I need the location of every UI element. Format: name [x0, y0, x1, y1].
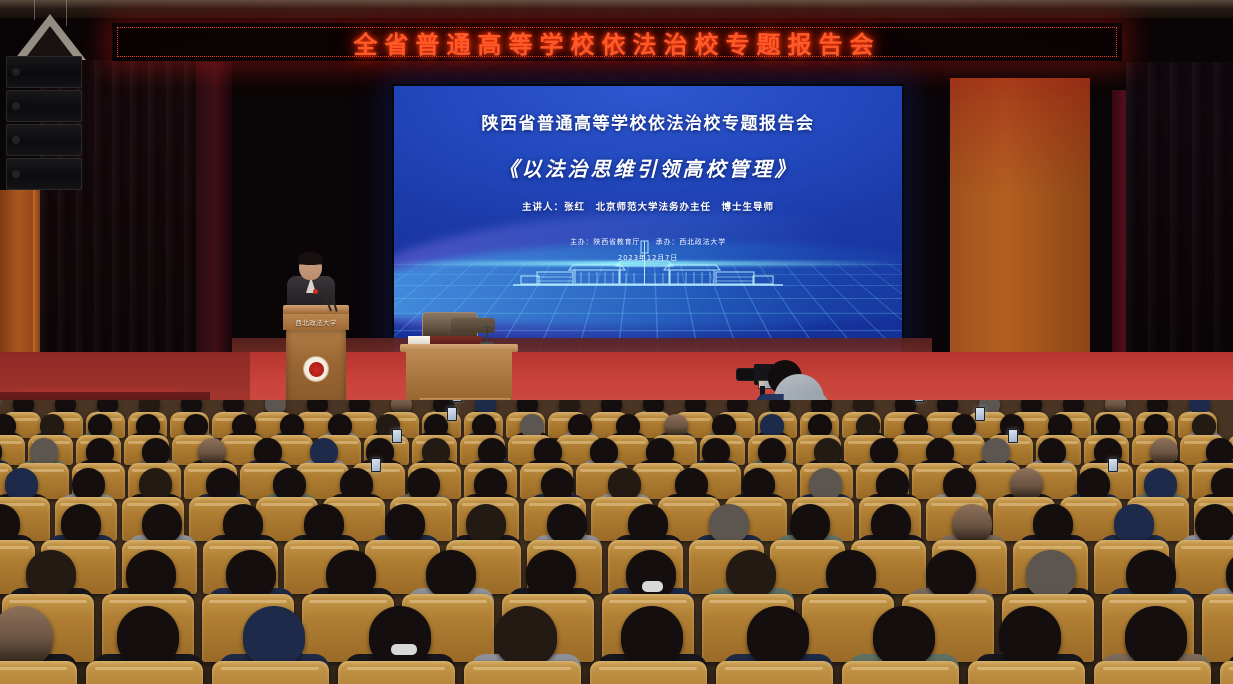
auditorium-seat[interactable] [86, 661, 203, 684]
audience-row [0, 606, 1233, 684]
audience-member-head [1096, 414, 1120, 437]
auditorium-seat[interactable] [212, 661, 329, 684]
face-mask [391, 644, 417, 655]
audience-member-head [142, 504, 182, 543]
audience-member-head [310, 438, 338, 465]
audience-member-head [709, 504, 749, 543]
line-array-speakers [6, 56, 82, 192]
audience-member-head [385, 504, 425, 543]
auditorium-seat[interactable] [464, 661, 581, 684]
audience-member-head [1010, 468, 1043, 500]
auditorium-seat[interactable] [0, 661, 77, 684]
audience-member-head [1033, 504, 1073, 543]
raised-phone [1108, 458, 1118, 472]
raised-phone [452, 400, 462, 402]
screen-speaker-line: 主讲人：张红 北京师范大学法务办主任 博士生导师 [394, 199, 902, 213]
led-banner-frame: 全省普通高等学校依法治校专题报告会 [117, 27, 1117, 57]
audience-seating: 签 到 [0, 400, 1233, 684]
audience-member-head [726, 550, 776, 598]
audience-member-head [982, 438, 1010, 465]
audience-member-head [422, 438, 450, 465]
audience-member-head [1048, 414, 1072, 437]
speaker-cabinet [6, 124, 82, 156]
audience-member-head [541, 468, 574, 500]
audience-member-head [568, 414, 592, 437]
audience-member-head [1195, 504, 1233, 543]
rig-cable [34, 0, 35, 20]
audience-member-head [198, 438, 226, 465]
university-emblem-icon [303, 356, 329, 382]
audience-member-head [547, 504, 587, 543]
audience-member-head [126, 550, 176, 598]
audience-member-head [1150, 438, 1178, 465]
screen-organizer-line: 主办：陕西省教育厅 承办：西北政法大学 [394, 237, 902, 247]
raised-phone [392, 429, 402, 443]
audience-member-head [926, 438, 954, 465]
audience-member-head [226, 550, 276, 598]
audience-member-head [943, 468, 976, 500]
audience-member-head [742, 468, 775, 500]
audience-member-head [926, 550, 976, 598]
stage-table [400, 312, 518, 408]
audience-member-head [407, 468, 440, 500]
audience-member-head [758, 438, 786, 465]
led-banner: 全省普通高等学校依法治校专题报告会 [112, 23, 1122, 61]
auditorium-seat[interactable] [968, 661, 1085, 684]
audience-member-head [5, 468, 38, 500]
audience-member-head [184, 414, 208, 437]
audience-member-head [243, 606, 305, 666]
audience-member-head [273, 468, 306, 500]
audience-member-head [1114, 504, 1154, 543]
audience-member-head [1144, 414, 1168, 437]
audience-member-head [426, 550, 476, 598]
audience-member-head [223, 504, 263, 543]
audience-member-head [808, 414, 832, 437]
audience-member-head [952, 414, 976, 437]
audience-member-head [139, 468, 172, 500]
presenter-hair [298, 252, 323, 265]
audience-member-head [478, 438, 506, 465]
audience-member-head [904, 414, 928, 437]
audience-member-head [474, 468, 507, 500]
audience-member-head [326, 550, 376, 598]
auditorium-seat[interactable] [1094, 661, 1211, 684]
audience-member-head [1144, 468, 1177, 500]
rigging-frame-inner [24, 26, 76, 60]
audience-member-head [526, 550, 576, 598]
audience-member-head [1206, 438, 1233, 465]
audience-member-head [340, 468, 373, 500]
audience-member-head [1125, 606, 1187, 666]
emblem-inner [309, 362, 324, 377]
audience-member-head [814, 438, 842, 465]
audience-member-head [369, 606, 431, 666]
speaker-cabinet [6, 158, 82, 190]
audience-member-head [712, 414, 736, 437]
auditorium-seat[interactable] [716, 661, 833, 684]
audience-member-head [952, 504, 992, 543]
audience-member-head [809, 468, 842, 500]
raised-phone [975, 407, 985, 421]
screen-title: 陕西省普通高等学校依法治校专题报告会 [394, 109, 902, 134]
audience-member-head [0, 606, 53, 666]
audience-member-head [117, 606, 179, 666]
audience-member-head [142, 438, 170, 465]
audience-member-head [466, 504, 506, 543]
rig-cable [66, 0, 67, 26]
screen-subtitle: 《以法治思维引领高校管理》 [394, 153, 902, 182]
auditorium-seat[interactable] [842, 661, 959, 684]
auditorium-seat[interactable] [1220, 661, 1233, 684]
audience-member-head [873, 606, 935, 666]
audience-member-head [280, 414, 304, 437]
audience-member-head [206, 468, 239, 500]
audience-member-head [590, 438, 618, 465]
presenter-lapel-badge [313, 289, 318, 294]
audience-member-head [826, 550, 876, 598]
raised-phone [447, 407, 457, 421]
speaker-cabinet [6, 90, 82, 122]
audience-member-head [608, 468, 641, 500]
audience-member-head [871, 504, 911, 543]
audience-member-head [646, 438, 674, 465]
audience-member-head [870, 438, 898, 465]
audience-member-head [26, 550, 76, 598]
ceiling-beam [0, 0, 1233, 9]
audience-member-head [520, 414, 544, 437]
audience-member-head [664, 414, 688, 437]
table-front-panel [406, 351, 512, 406]
raised-phone [914, 400, 924, 402]
audience-member-head [328, 414, 352, 437]
audience-member-head [30, 438, 58, 465]
speaker-cabinet [6, 56, 82, 88]
audience-member-head [790, 504, 830, 543]
audience-member-head [424, 414, 448, 437]
audience-member-head [86, 438, 114, 465]
audience-member-head [999, 606, 1061, 666]
podium-top [283, 305, 349, 314]
audience-member-head [1038, 438, 1066, 465]
audience-member-head [1211, 468, 1233, 500]
led-banner-text: 全省普通高等学校依法治校专题报告会 [354, 25, 881, 60]
audience-member-head [304, 504, 344, 543]
audience-member-head [495, 606, 557, 666]
audience-member-head [40, 414, 64, 437]
audience-member-head [136, 414, 160, 437]
audience-member-head [675, 468, 708, 500]
audience-member-head [628, 504, 668, 543]
screen-text-block: 陕西省普通高等学校依法治校专题报告会 《以法治思维引领高校管理》 主讲人：张红 … [394, 86, 902, 263]
audience-member-head [534, 438, 562, 465]
speaker-rigging [4, 0, 100, 62]
raised-phone [371, 458, 381, 472]
audience-member-head [1026, 550, 1076, 598]
audience-member-head [1077, 468, 1110, 500]
auditorium-seat[interactable] [590, 661, 707, 684]
raised-phone [1008, 429, 1018, 443]
audience-member-head [61, 504, 101, 543]
stage-chair [422, 312, 478, 338]
audience-member-head [88, 414, 112, 437]
audience-member-head [621, 606, 683, 666]
audience-member-head [876, 468, 909, 500]
audience-member-head [1126, 550, 1176, 598]
auditorium-seat[interactable] [338, 661, 455, 684]
audience-member-head [1192, 414, 1216, 437]
podium-institution-label: 西北政法大学 [283, 314, 349, 330]
auditorium-photo: 全省普通高等学校依法治校专题报告会 [0, 0, 1233, 684]
face-mask [642, 581, 663, 592]
audience-member-head [760, 414, 784, 437]
audience-member-head [616, 414, 640, 437]
audience-member-head [232, 414, 256, 437]
audience-member-head [747, 606, 809, 666]
audience-member-head [72, 468, 105, 500]
screen-date: 2023年12月7日 [394, 253, 902, 263]
audience-member-head [856, 414, 880, 437]
audience-member-head [472, 414, 496, 437]
audience-member-head [254, 438, 282, 465]
audience-member-head [702, 438, 730, 465]
podium: 西北政法大学 [283, 305, 349, 405]
podium-body [286, 330, 346, 405]
